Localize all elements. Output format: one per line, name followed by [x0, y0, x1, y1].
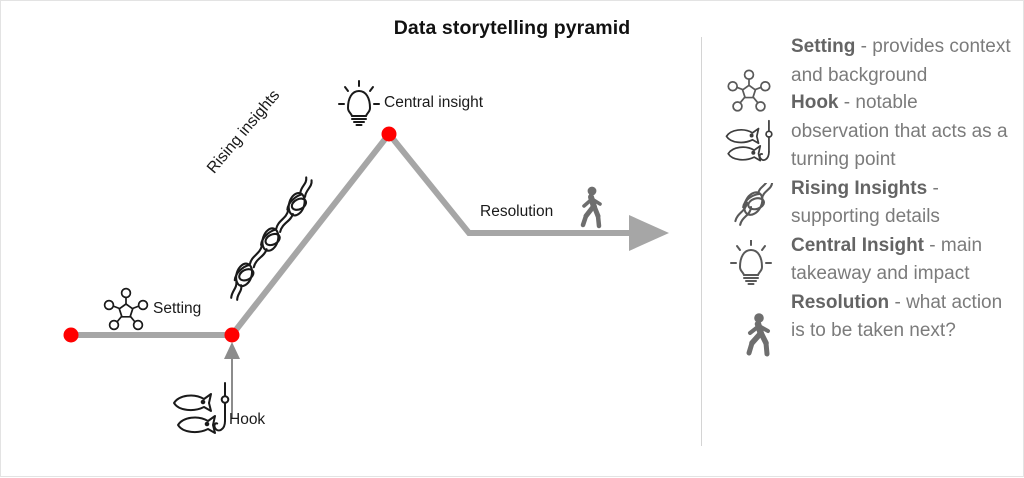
legend-item-central-insight: Central Insight - main takeaway and impa… [717, 232, 1017, 289]
legend-separator-hook: - [839, 92, 856, 113]
point-hook [225, 328, 240, 343]
legend-desc-rising-insights: supporting details [791, 206, 940, 227]
diagram-label-resolution: Resolution [480, 203, 553, 221]
diagram-label-central: Central insight [384, 94, 483, 112]
legend-separator-setting: - [855, 36, 872, 57]
rope-knots-icon [723, 183, 779, 231]
legend-text-central-insight: Central Insight - main takeaway and impa… [791, 232, 1017, 289]
fish-and-hook-icon [721, 119, 777, 171]
lightbulb-icon [723, 240, 779, 288]
lightbulb-icon [339, 81, 379, 125]
storytelling-pyramid-diagram [1, 1, 701, 478]
legend-text-hook: Hook - notable observation that acts as … [791, 89, 1017, 175]
legend-text-rising-insights: Rising Insights - supporting details [791, 175, 1017, 232]
legend-item-hook: Hook - notable observation that acts as … [717, 89, 1017, 175]
legend-term-rising-insights: Rising Insights [791, 178, 927, 199]
diagram-label-hook: Hook [229, 411, 265, 429]
point-start [64, 328, 79, 343]
legend-panel: Setting - provides context and backgroun… [717, 33, 1017, 347]
legend-term-central-insight: Central Insight [791, 235, 924, 256]
legend-item-resolution: Resolution - what action is to be taken … [717, 289, 1017, 346]
fish-and-hook-icon [174, 383, 228, 433]
legend-text-resolution: Resolution - what action is to be taken … [791, 289, 1017, 346]
walking-person-icon [729, 311, 785, 359]
diagram-label-setting: Setting [153, 300, 201, 318]
legend-separator-resolution: - [889, 292, 906, 313]
network-nodes-icon [105, 289, 148, 330]
hook-callout-arrow [224, 342, 240, 419]
legend-term-setting: Setting [791, 36, 855, 57]
legend-item-setting: Setting - provides context and backgroun… [717, 33, 1017, 90]
legend-term-hook: Hook [791, 92, 839, 113]
slide-canvas: Data storytelling pyramid [0, 0, 1024, 477]
legend-term-resolution: Resolution [791, 292, 889, 313]
point-central-insight [382, 127, 397, 142]
legend-separator-central-insight: - [924, 235, 941, 256]
legend-item-rising-insights: Rising Insights - supporting details [717, 175, 1017, 232]
legend-separator-rising-insights: - [927, 178, 939, 199]
legend-text-setting: Setting - provides context and backgroun… [791, 33, 1017, 90]
resolution-arrowhead [629, 215, 669, 251]
walking-person-icon [583, 187, 600, 226]
vertical-divider [701, 37, 702, 446]
